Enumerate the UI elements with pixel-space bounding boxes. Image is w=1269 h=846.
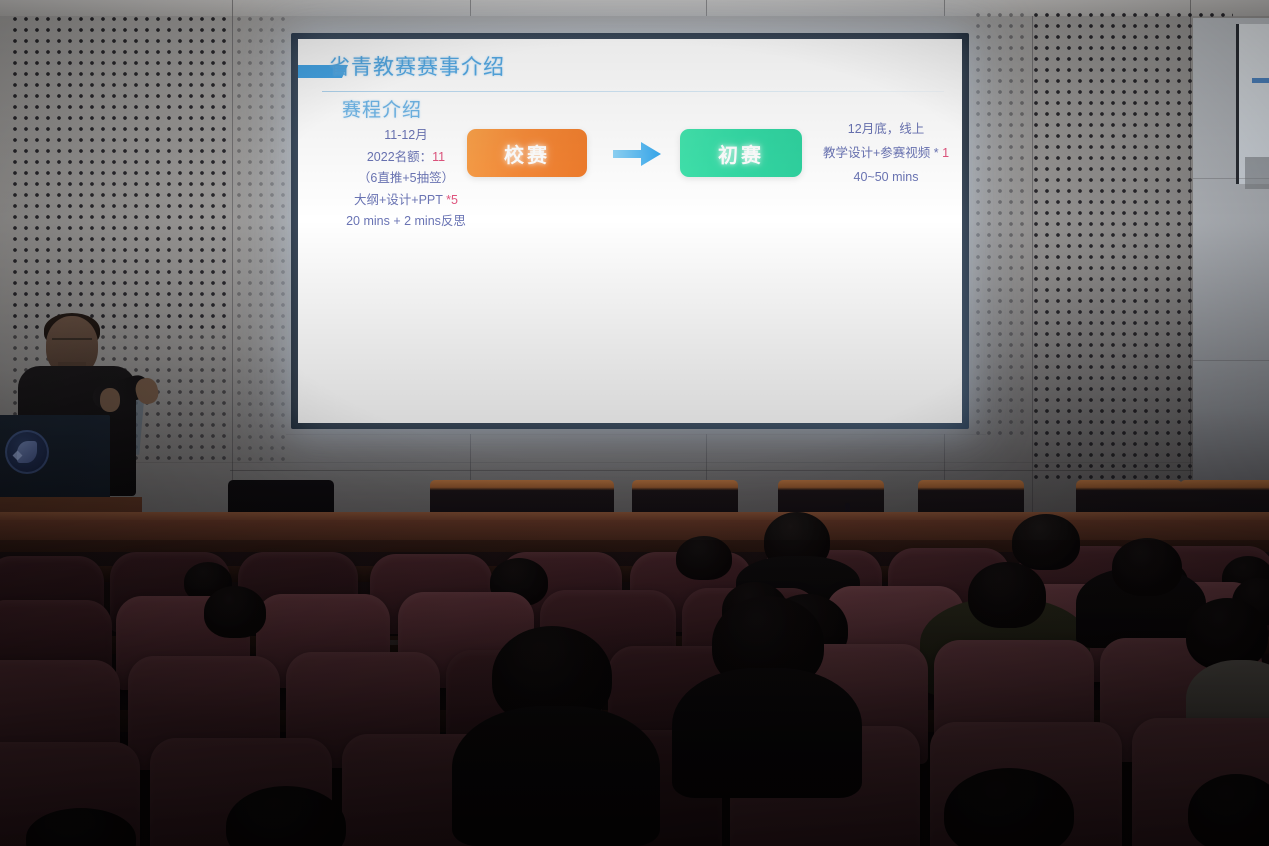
stage-box-label-1: 初赛 [718,139,764,168]
slide-canvas: 省青教赛赛事介绍 赛程介绍 11-12月 2022名额：11 （6直推+5抽签）… [298,39,962,423]
audience-head [204,586,266,638]
audience-shoulders [672,668,862,798]
projection-screen: 省青教赛赛事介绍 赛程介绍 11-12月 2022名额：11 （6直推+5抽签）… [298,39,962,423]
acoustic-panel-right-edge [975,12,1031,442]
title-underline [322,91,944,92]
audience-head [1186,598,1268,670]
left-line-4: 20 mins + 2 mins反思 [306,211,506,233]
university-emblem-icon [5,430,49,474]
right-line-1: 教学设计+参赛视频 * 1 [806,141,962,165]
acoustic-panel-left [12,16,230,334]
lecture-hall-photo: 省青教赛赛事介绍 赛程介绍 11-12月 2022名额：11 （6直推+5抽签）… [0,0,1269,846]
stage-box-school-round: 校赛 [467,129,587,177]
audience-head [676,536,732,580]
slide-subtitle: 赛程介绍 [342,95,422,122]
stage-box-preliminary-round: 初赛 [680,129,802,177]
arrow-right-icon [611,139,663,169]
slide-title: 省青教赛赛事介绍 [329,51,505,81]
audience-head [968,562,1046,628]
speaker-glasses [52,338,92,349]
door-blue-accent [1252,78,1269,83]
audience-head [1012,514,1080,570]
right-text-block: 12月底，线上 教学设计+参赛视频 * 1 40~50 mins [806,117,962,189]
right-line-0: 12月底，线上 [806,117,962,141]
audience-shoulders [452,706,660,846]
acoustic-panel-left-mid [236,16,288,462]
left-line-3: 大纲+设计+PPT *5 [306,190,506,212]
stage-box-label-0: 校赛 [504,139,550,168]
audience-head [1112,538,1182,596]
speaker-hand-right [100,388,120,412]
right-line-2: 40~50 mins [806,165,962,189]
